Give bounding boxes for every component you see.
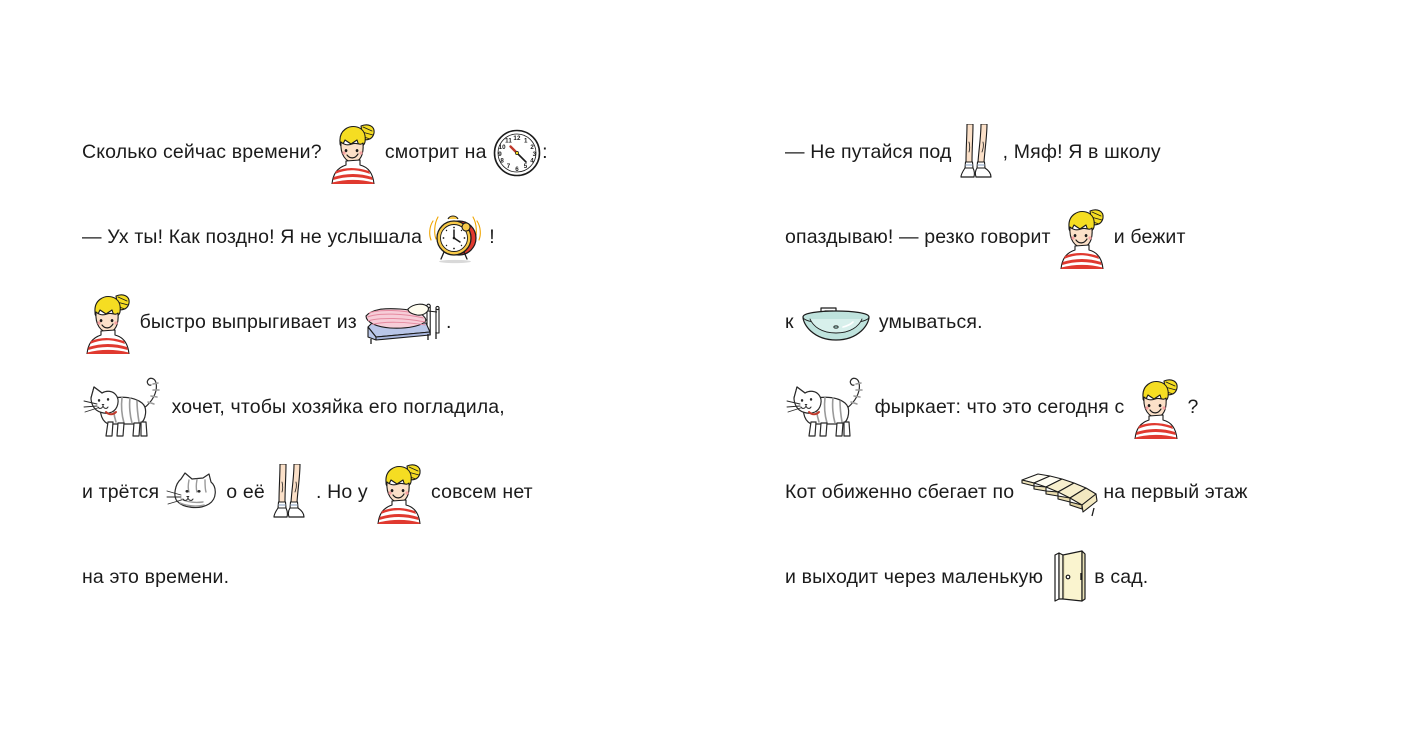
story-text: хочет, чтобы хозяйка его погладила, bbox=[166, 396, 505, 419]
girl-portrait-icon bbox=[327, 122, 379, 184]
story-text: и трётся bbox=[82, 481, 165, 504]
story-line: и трётся о её bbox=[82, 450, 682, 535]
bed-icon bbox=[362, 299, 440, 347]
svg-text:7: 7 bbox=[507, 163, 511, 170]
svg-text:4: 4 bbox=[530, 157, 534, 164]
story-text: Сколько сейчас времени? bbox=[82, 141, 327, 164]
story-text: , Мяф! Я в школу bbox=[997, 141, 1161, 164]
story-text: в сад. bbox=[1089, 566, 1149, 589]
wall-clock-icon: 12 1 2 3 4 5 6 7 8 9 10 11 bbox=[492, 127, 542, 179]
story-line: — Ух ты! Как поздно! Я не услышала ! bbox=[82, 195, 682, 280]
svg-text:11: 11 bbox=[505, 137, 512, 144]
story-line: на это времени. bbox=[82, 535, 682, 620]
story-text: на это времени. bbox=[82, 566, 229, 589]
story-line: — Не путайся под , Мяф! Я в школу bbox=[785, 110, 1385, 195]
legs-icon bbox=[270, 464, 310, 522]
story-text: быстро выпрыгивает из bbox=[134, 311, 362, 334]
story-line: хочет, чтобы хозяйка его погладила, bbox=[82, 365, 682, 450]
girl-portrait-icon bbox=[1056, 207, 1108, 269]
svg-text:6: 6 bbox=[515, 165, 519, 172]
story-line: быстро выпрыгивает из . bbox=[82, 280, 682, 365]
story-text: . Но у bbox=[310, 481, 373, 504]
story-text: и бежит bbox=[1108, 226, 1185, 249]
svg-text:5: 5 bbox=[524, 163, 528, 170]
story-text: ? bbox=[1182, 396, 1199, 419]
svg-text:8: 8 bbox=[501, 157, 505, 164]
girl-portrait-icon bbox=[82, 292, 134, 354]
story-text: : bbox=[542, 141, 548, 164]
cat-icon bbox=[785, 374, 869, 442]
story-line: к умываться. bbox=[785, 280, 1385, 365]
door-icon bbox=[1049, 549, 1089, 607]
story-text: к bbox=[785, 311, 799, 334]
alarm-clock-icon bbox=[428, 211, 484, 265]
story-text: на первый этаж bbox=[1098, 481, 1248, 504]
svg-text:9: 9 bbox=[498, 150, 502, 157]
story-line: и выходит через маленькую в сад. bbox=[785, 535, 1385, 620]
girl-portrait-icon bbox=[1130, 377, 1182, 439]
story-text: фыркает: что это сегодня с bbox=[869, 396, 1130, 419]
story-line: Кот обиженно сбегает по на первый этаж bbox=[785, 450, 1385, 535]
svg-text:10: 10 bbox=[499, 144, 507, 151]
story-text: умываться. bbox=[873, 311, 982, 334]
right-text-column: — Не путайся под , Мяф! Я в школуопаздыв… bbox=[785, 110, 1385, 620]
picture-story-page: Сколько сейчас времени? см bbox=[0, 0, 1410, 738]
story-text: смотрит на bbox=[379, 141, 492, 164]
legs-icon bbox=[957, 124, 997, 182]
svg-text:12: 12 bbox=[514, 135, 522, 142]
story-line: фыркает: что это сегодня с bbox=[785, 365, 1385, 450]
story-line: опаздываю! — резко говорит bbox=[785, 195, 1385, 280]
sink-icon bbox=[799, 302, 873, 344]
cat-icon bbox=[82, 374, 166, 442]
girl-portrait-icon bbox=[373, 462, 425, 524]
story-text: Кот обиженно сбегает по bbox=[785, 481, 1020, 504]
cat-head-icon bbox=[165, 471, 221, 515]
story-text: о её bbox=[221, 481, 271, 504]
svg-text:1: 1 bbox=[524, 137, 528, 144]
story-text: опаздываю! — резко говорит bbox=[785, 226, 1056, 249]
story-text: . bbox=[440, 311, 451, 334]
story-text: — Ух ты! Как поздно! Я не услышала bbox=[82, 226, 428, 249]
story-text: и выходит через маленькую bbox=[785, 566, 1049, 589]
story-text: — Не путайся под bbox=[785, 141, 957, 164]
story-line: Сколько сейчас времени? см bbox=[82, 110, 682, 195]
story-text: совсем нет bbox=[425, 481, 532, 504]
left-text-column: Сколько сейчас времени? см bbox=[82, 110, 682, 620]
story-text: ! bbox=[484, 226, 495, 249]
stairs-icon bbox=[1020, 468, 1098, 518]
